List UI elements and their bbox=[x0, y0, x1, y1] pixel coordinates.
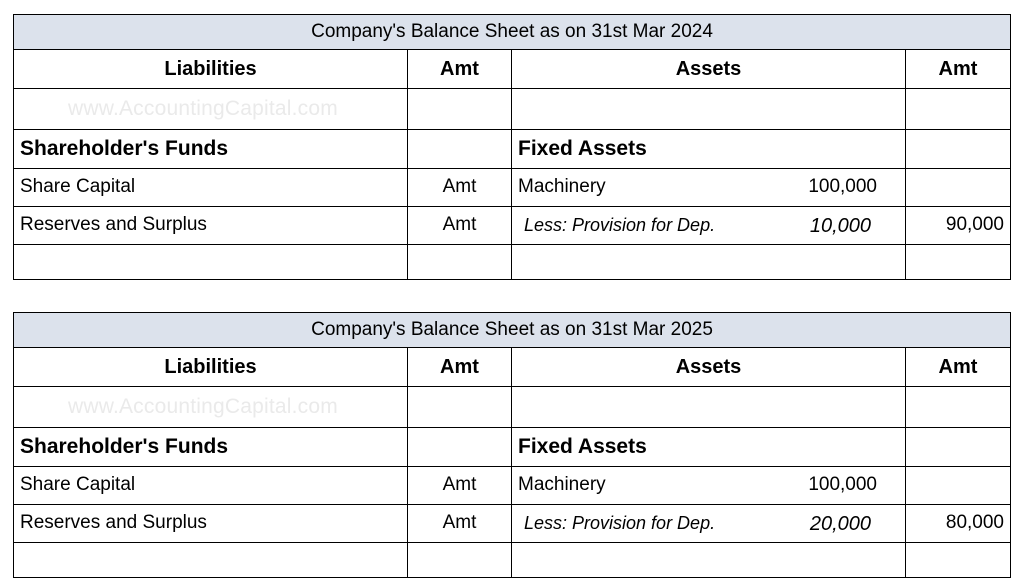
asset-cell: Machinery 100,000 bbox=[512, 467, 906, 505]
empty-cell bbox=[906, 543, 1011, 578]
column-header-assets: Assets bbox=[512, 50, 906, 89]
section-heading-row: Shareholder's Funds Fixed Assets bbox=[14, 428, 1011, 467]
empty-cell bbox=[408, 543, 512, 578]
empty-cell bbox=[408, 428, 512, 467]
watermark-row: www.AccountingCapital.com bbox=[14, 387, 1011, 428]
empty-cell bbox=[512, 543, 906, 578]
empty-cell bbox=[906, 245, 1011, 280]
balance-sheet-2025: Company's Balance Sheet as on 31st Mar 2… bbox=[13, 312, 1010, 578]
empty-cell bbox=[906, 387, 1011, 428]
assets-section-heading: Fixed Assets bbox=[512, 130, 906, 169]
asset-label: Machinery bbox=[518, 177, 606, 198]
watermark-row: www.AccountingCapital.com bbox=[14, 89, 1011, 130]
liability-label: Share Capital bbox=[14, 467, 408, 505]
table-row: Share Capital Amt Machinery 100,000 bbox=[14, 169, 1011, 207]
assets-section-heading: Fixed Assets bbox=[512, 428, 906, 467]
column-header-liabilities: Liabilities bbox=[14, 348, 408, 387]
asset-net-amount: 90,000 bbox=[906, 207, 1011, 245]
column-header-amt-left: Amt bbox=[408, 348, 512, 387]
sheet-title: Company's Balance Sheet as on 31st Mar 2… bbox=[14, 313, 1011, 348]
watermark-text: www.AccountingCapital.com bbox=[20, 395, 401, 418]
empty-cell bbox=[408, 387, 512, 428]
asset-amount bbox=[906, 169, 1011, 207]
empty-cell bbox=[512, 89, 906, 130]
asset-figure: 100,000 bbox=[808, 177, 899, 198]
liability-label: Reserves and Surplus bbox=[14, 207, 408, 245]
blank-row bbox=[14, 543, 1011, 578]
column-header-assets: Assets bbox=[512, 348, 906, 387]
empty-cell bbox=[906, 89, 1011, 130]
watermark-cell: www.AccountingCapital.com bbox=[14, 89, 408, 130]
liability-amount: Amt bbox=[408, 207, 512, 245]
section-heading-row: Shareholder's Funds Fixed Assets bbox=[14, 130, 1011, 169]
watermark-cell: www.AccountingCapital.com bbox=[14, 387, 408, 428]
column-header-amt-left: Amt bbox=[408, 50, 512, 89]
table-title-row: Company's Balance Sheet as on 31st Mar 2… bbox=[14, 313, 1011, 348]
balance-sheet-2024: Company's Balance Sheet as on 31st Mar 2… bbox=[13, 14, 1010, 280]
empty-cell bbox=[906, 428, 1011, 467]
watermark-text: www.AccountingCapital.com bbox=[20, 97, 401, 120]
blank-row bbox=[14, 245, 1011, 280]
asset-cell: Machinery 100,000 bbox=[512, 169, 906, 207]
column-header-row: Liabilities Amt Assets Amt bbox=[14, 50, 1011, 89]
empty-cell bbox=[14, 245, 408, 280]
asset-amount bbox=[906, 467, 1011, 505]
column-header-amt-right: Amt bbox=[906, 348, 1011, 387]
asset-figure: 100,000 bbox=[808, 475, 899, 496]
asset-label: Less: Provision for Dep. bbox=[518, 216, 715, 236]
asset-label: Less: Provision for Dep. bbox=[518, 514, 715, 534]
empty-cell bbox=[512, 245, 906, 280]
column-header-liabilities: Liabilities bbox=[14, 50, 408, 89]
liability-amount: Amt bbox=[408, 467, 512, 505]
sheet-title: Company's Balance Sheet as on 31st Mar 2… bbox=[14, 15, 1011, 50]
liability-label: Share Capital bbox=[14, 169, 408, 207]
column-header-row: Liabilities Amt Assets Amt bbox=[14, 348, 1011, 387]
liability-amount: Amt bbox=[408, 169, 512, 207]
asset-cell: Less: Provision for Dep. 10,000 bbox=[512, 207, 906, 245]
liability-amount: Amt bbox=[408, 505, 512, 543]
table-row: Reserves and Surplus Amt Less: Provision… bbox=[14, 207, 1011, 245]
asset-figure: 20,000 bbox=[810, 513, 899, 535]
column-header-amt-right: Amt bbox=[906, 50, 1011, 89]
empty-cell bbox=[512, 387, 906, 428]
balance-sheet-table: Company's Balance Sheet as on 31st Mar 2… bbox=[13, 14, 1011, 280]
liabilities-section-heading: Shareholder's Funds bbox=[14, 130, 408, 169]
liabilities-section-heading: Shareholder's Funds bbox=[14, 428, 408, 467]
empty-cell bbox=[906, 130, 1011, 169]
table-title-row: Company's Balance Sheet as on 31st Mar 2… bbox=[14, 15, 1011, 50]
table-row: Share Capital Amt Machinery 100,000 bbox=[14, 467, 1011, 505]
balance-sheet-table: Company's Balance Sheet as on 31st Mar 2… bbox=[13, 312, 1011, 578]
asset-figure: 10,000 bbox=[810, 215, 899, 237]
asset-cell: Less: Provision for Dep. 20,000 bbox=[512, 505, 906, 543]
asset-label: Machinery bbox=[518, 475, 606, 496]
empty-cell bbox=[408, 130, 512, 169]
liability-label: Reserves and Surplus bbox=[14, 505, 408, 543]
empty-cell bbox=[408, 89, 512, 130]
asset-net-amount: 80,000 bbox=[906, 505, 1011, 543]
table-row: Reserves and Surplus Amt Less: Provision… bbox=[14, 505, 1011, 543]
empty-cell bbox=[14, 543, 408, 578]
empty-cell bbox=[408, 245, 512, 280]
